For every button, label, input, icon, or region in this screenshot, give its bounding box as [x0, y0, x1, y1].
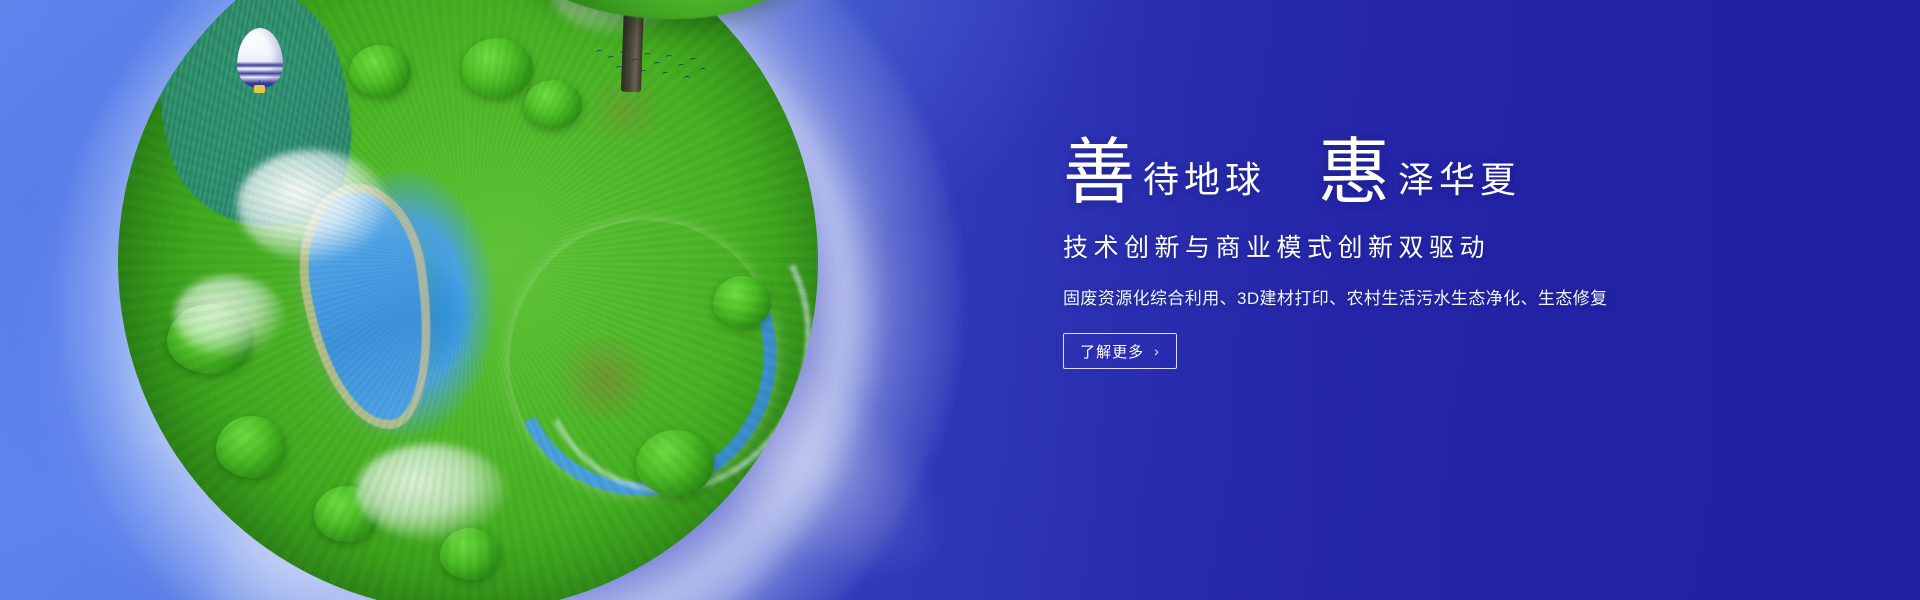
- headline-small-text: 待地球: [1143, 163, 1266, 206]
- balloon-basket: [254, 85, 265, 93]
- hero-banner: 善 待地球 惠 泽华夏 技术创新与商业模式创新双驱动 固废资源化综合利用、3D建…: [0, 0, 1920, 600]
- headline-big-char: 惠: [1318, 138, 1390, 206]
- background-right-vignette: [0, 0, 1920, 600]
- hero-subtitle: 技术创新与商业模式创新双驱动: [1063, 228, 1608, 264]
- headline-group-2: 惠 泽华夏: [1318, 138, 1521, 206]
- headline-group-1: 善 待地球: [1063, 138, 1266, 206]
- balloon-envelope: [237, 28, 283, 88]
- headline-small-text: 泽华夏: [1398, 163, 1521, 206]
- hero-description: 固废资源化综合利用、3D建材打印、农村生活污水生态净化、生态修复: [1063, 284, 1608, 309]
- headline-big-char: 善: [1063, 138, 1135, 206]
- hero-content: 善 待地球 惠 泽华夏 技术创新与商业模式创新双驱动 固废资源化综合利用、3D建…: [1063, 0, 1608, 369]
- learn-more-label: 了解更多: [1080, 341, 1144, 362]
- chevron-right-icon: ›: [1154, 344, 1160, 358]
- hot-air-balloon-icon: [237, 28, 283, 88]
- page-title: 善 待地球 惠 泽华夏: [1063, 138, 1608, 206]
- learn-more-button[interactable]: 了解更多 ›: [1063, 333, 1177, 369]
